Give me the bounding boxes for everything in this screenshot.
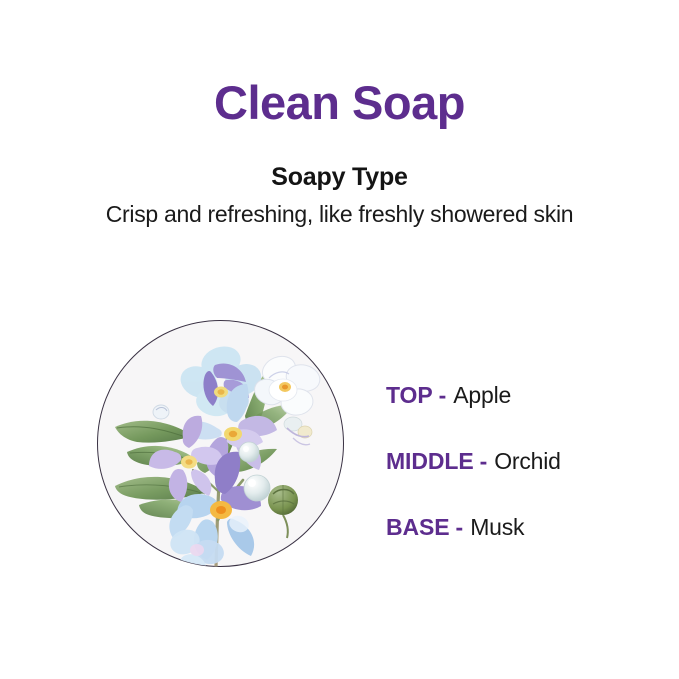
note-value-top: Apple: [453, 382, 511, 409]
fragrance-card: Clean Soap Soapy Type Crisp and refreshi…: [0, 0, 679, 679]
note-separator-middle: -: [474, 448, 495, 475]
card-body: TOP - Apple MIDDLE - Orchid BASE - Musk: [0, 320, 679, 590]
page-title: Clean Soap: [0, 78, 679, 129]
floral-bouquet-icon: [97, 320, 344, 567]
note-separator-base: -: [450, 514, 471, 541]
note-value-base: Musk: [470, 514, 524, 541]
scent-description: Crisp and refreshing, like freshly showe…: [0, 192, 679, 228]
note-value-middle: Orchid: [494, 448, 561, 475]
card-header: Clean Soap Soapy Type Crisp and refreshi…: [0, 78, 679, 228]
note-row-top: TOP - Apple: [386, 362, 666, 428]
note-row-middle: MIDDLE - Orchid: [386, 428, 666, 494]
note-label-top: TOP: [386, 382, 433, 409]
floral-illustration: [97, 320, 344, 567]
note-label-middle: MIDDLE: [386, 448, 474, 475]
scent-type-label: Soapy Type: [0, 129, 679, 192]
note-row-base: BASE - Musk: [386, 494, 666, 560]
note-label-base: BASE: [386, 514, 450, 541]
note-separator-top: -: [433, 382, 454, 409]
fragrance-notes-list: TOP - Apple MIDDLE - Orchid BASE - Musk: [386, 362, 666, 560]
